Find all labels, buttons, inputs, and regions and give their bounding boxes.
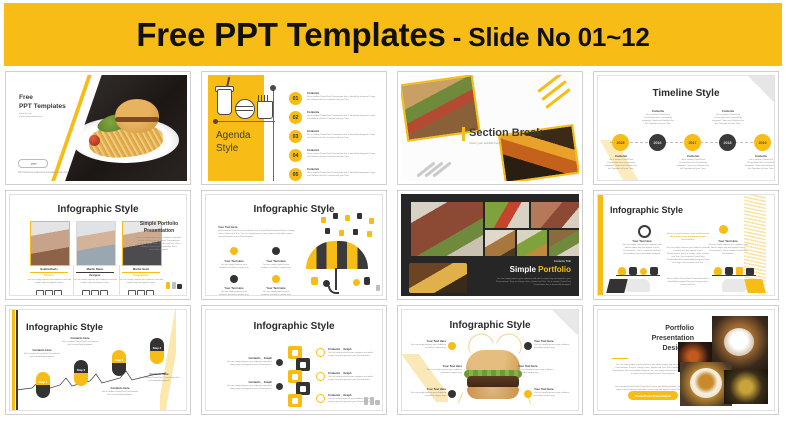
right-bullet-2 — [316, 372, 325, 381]
agenda-heading-5: Contents — [307, 167, 319, 171]
slide-11-title: Infographic Style — [402, 320, 578, 331]
drink-cup-icon — [217, 89, 232, 115]
connector-knob-left — [213, 119, 218, 124]
step-label-4: Step 4 — [150, 346, 164, 350]
step-pill-4: Step 4 — [150, 338, 164, 364]
footer-cup-icon — [364, 397, 368, 405]
slide-grid: Free PPT Templates Insert the title of y… — [0, 68, 786, 423]
slide-thumbnail-12[interactable]: Portfolio Presentation Designed You can … — [593, 305, 779, 415]
cup-mini-icon — [166, 282, 170, 289]
page-title-sub: - Slide No 01~12 — [446, 22, 650, 52]
slide-2-canvas: Agenda Style 01 Contents Get a modern Po… — [205, 75, 383, 181]
step-pill-2: Step 2 — [74, 360, 88, 386]
step-label-1: Step 1 — [36, 380, 50, 384]
right-body-1: You can simply impress your audience and… — [328, 352, 378, 358]
burger-board-photo — [409, 263, 467, 293]
timeline-node-2: 2016 — [649, 134, 666, 151]
right-body-2: You can simply impress your audience and… — [328, 376, 378, 382]
fries-box-icon — [257, 101, 273, 119]
step-heading-1: Contents Here — [22, 348, 62, 352]
step-body-2: Get a modern PowerPoint Presentation tha… — [60, 341, 100, 347]
slide-4-title: Timeline Style — [598, 88, 774, 99]
coffee-cup-shape — [724, 328, 754, 356]
left-heading-1: Contents _ Graph — [230, 356, 272, 360]
agenda-body-2: Get a modern PowerPoint Presentation tha… — [307, 115, 379, 121]
step-heading-4: Contents Here — [138, 372, 180, 376]
slide-7-body: You can simply impress your audience and… — [489, 278, 571, 287]
social-icon-3b[interactable] — [137, 290, 145, 296]
right-food-icon-2 — [725, 267, 733, 275]
agenda-heading-2: Contents — [307, 110, 319, 114]
food-photo-4 — [485, 230, 515, 256]
slide-gallery-page: Free PPT Templates - Slide No 01~12 — [0, 0, 786, 423]
agenda-number-4: 04 — [289, 149, 302, 162]
team-role-1: Director — [26, 274, 72, 277]
team-role-2: Designer — [72, 274, 118, 277]
slide-7-title: Simple Portfolio — [510, 265, 571, 274]
timeline-body-5: Get a modern PowerPoint Presentation tha… — [744, 159, 775, 171]
slide-9-canvas: Infographic Style Step 1 Contents Here G… — [9, 309, 187, 411]
food-photo-3 — [531, 202, 579, 228]
food-photo-2 — [485, 202, 529, 228]
slide-10-canvas: Infographic Style Contents _ Graph — [205, 309, 383, 411]
social-icon-1c[interactable] — [54, 290, 62, 296]
slide-thumbnail-10[interactable]: Infographic Style Contents _ Graph — [201, 305, 387, 415]
tomato-shape — [89, 135, 100, 146]
slide-2-title: Agenda Style — [216, 129, 250, 155]
right-heading: Your Text Here — [710, 239, 746, 243]
falling-icon-8 — [353, 229, 358, 235]
slide-10-title: Infographic Style — [206, 321, 382, 332]
agenda-number-1: 01 — [289, 92, 302, 105]
left-palm — [624, 279, 650, 292]
team-body-3: You can simply impress your audience and… — [118, 279, 164, 285]
right-body: You can simply impress your audience and… — [708, 244, 748, 256]
left-bullet-2 — [276, 383, 283, 390]
logo-badge: PPT — [18, 159, 48, 168]
bottom-icon-3 — [353, 279, 360, 286]
step-heading-2: Contents Here — [60, 336, 100, 340]
bullet-marker-4 — [272, 275, 280, 283]
burger-illustration — [464, 350, 522, 400]
timeline-body-3: Get a modern PowerPoint Presentation tha… — [676, 159, 710, 171]
team-rule-1 — [30, 272, 68, 273]
slide-12-title-line1: Portfolio — [618, 324, 694, 334]
callout-body-5: You can simply impress your audience and… — [518, 369, 556, 375]
falling-icon-4 — [357, 213, 362, 219]
burger-icon — [235, 99, 255, 119]
callout-heading-1: Your Text Here — [416, 339, 446, 343]
callout-heading-6: Your Text Here — [534, 387, 564, 391]
slide-thumbnail-3[interactable]: Section Break Insert your subtitle here — [397, 71, 583, 185]
left-yellow-bar — [12, 310, 15, 410]
burger-bottom-bun — [467, 387, 519, 399]
slide-thumbnail-11[interactable]: Infographic Style Your Text Here You can… — [397, 305, 583, 415]
callout-heading-2: Your Text Here — [430, 364, 462, 368]
timeline-node-5: 2019 — [754, 134, 771, 151]
stack-square-5-icon — [292, 398, 298, 404]
title-rule — [612, 358, 628, 359]
title-accent-tick — [462, 127, 465, 141]
callout-marker-3 — [448, 390, 456, 398]
left-food-icon-4 — [650, 267, 658, 275]
slide-thumbnail-6[interactable]: Infographic Style Your Text Here Get a m… — [201, 190, 387, 300]
connector-horizontal — [215, 121, 275, 122]
left-marker-icon — [638, 225, 651, 238]
left-body: You can simply impress your audience and… — [622, 244, 662, 256]
timeline-heading-4: Contents — [711, 109, 745, 113]
center-body: You can simply impress your audience and… — [666, 247, 710, 265]
agenda-number-5: 05 — [289, 168, 302, 181]
slide-1-title: Free PPT Templates — [19, 93, 66, 111]
left-body-2: You can simply impress your audience and… — [224, 385, 272, 391]
cell-body-2: You can simply impress your audience and… — [260, 264, 292, 270]
step-body-4: Get a modern PowerPoint Presentation tha… — [138, 377, 180, 383]
social-icon-2c[interactable] — [100, 290, 108, 296]
avatar — [77, 222, 115, 265]
left-food-icon-2 — [629, 267, 637, 275]
tea-cup-shape — [690, 368, 722, 398]
left-yellow-bar — [598, 195, 603, 295]
left-dark-bar — [16, 310, 18, 410]
agenda-heading-1: Contents — [307, 91, 319, 95]
bullet-marker-2 — [272, 247, 280, 255]
team-rule-2 — [76, 272, 114, 273]
side-heading-line2: Presentation — [136, 228, 182, 235]
right-bullet-3 — [316, 394, 325, 403]
connector-knob-top — [270, 85, 276, 91]
left-heading: Your Text Here — [624, 239, 660, 243]
callout-heading-3: Your Text Here — [416, 387, 446, 391]
team-body-2: You can simply impress your audience and… — [72, 279, 118, 285]
slide-7-canvas: Contents Title Simple Portfolio You can … — [401, 194, 579, 296]
step-pill-4-bottom — [150, 351, 164, 364]
slide-thumbnail-1[interactable]: Free PPT Templates Insert the title of y… — [5, 71, 191, 185]
side-panel: Simple Portfolio Presentation — [136, 221, 182, 235]
slide-12-canvas: Portfolio Presentation Designed You can … — [597, 309, 775, 411]
umbrella-hook — [328, 286, 339, 294]
connector-vertical — [273, 87, 274, 181]
slide-8-title: Infographic Style — [610, 205, 683, 215]
food-photo-5 — [517, 230, 547, 256]
social-icon-2a[interactable] — [82, 290, 90, 296]
side-body: You can simply impress your audience and… — [136, 237, 182, 252]
left-body-1: You can simply impress your audience and… — [224, 361, 272, 367]
burger-shape — [115, 99, 159, 133]
slide-6-title: Infographic Style — [206, 204, 382, 215]
left-hand-icon — [608, 277, 650, 293]
step-pill-1-bottom — [36, 385, 50, 398]
food-photo-6 — [549, 230, 579, 256]
step-heading-3: Contents Here — [100, 386, 140, 390]
burger-line-2 — [235, 110, 253, 111]
team-rule-3 — [122, 272, 160, 273]
footer-burger-icon — [375, 400, 380, 405]
team-photo-2 — [76, 221, 116, 266]
slide-thumbnail-7[interactable]: Contents Title Simple Portfolio You can … — [397, 190, 583, 300]
bottom-icon-2 — [323, 280, 330, 287]
step-body-1: Get a modern PowerPoint Presentation tha… — [22, 353, 62, 359]
timeline-heading-5: Contents — [744, 154, 775, 158]
right-hand-icon — [722, 277, 764, 293]
social-icon-1a[interactable] — [36, 290, 44, 296]
slide-thumbnail-4[interactable]: Timeline Style 2015 Contents Get a moder… — [593, 71, 779, 185]
social-icon-3c[interactable] — [146, 290, 154, 296]
callout-body-6: You can simply impress your audience and… — [534, 392, 570, 398]
cell-heading-4: Your Text Here — [264, 286, 288, 290]
right-food-icon-4 — [746, 268, 754, 275]
team-role-3: Programmer — [118, 274, 164, 277]
falling-icon-5 — [369, 218, 374, 224]
burger-top-bun — [466, 350, 520, 372]
umbrella-dome — [306, 241, 368, 269]
social-icon-1b[interactable] — [45, 290, 53, 296]
agenda-number-3: 03 — [289, 130, 302, 143]
intro-body: Get a modern PowerPoint Presentation tha… — [218, 230, 296, 239]
cup-mini-icon-2 — [172, 282, 176, 289]
callout-marker-6 — [524, 390, 532, 398]
footer-cup-icon-2 — [370, 397, 374, 405]
step-pill-3: Step 3 — [112, 350, 126, 376]
coffee-photo-4 — [724, 370, 768, 404]
step-label-2: Step 2 — [74, 368, 88, 372]
slide-8-canvas: Infographic Style Your Text Here You can… — [597, 194, 775, 296]
stack-square-3-icon — [292, 374, 298, 380]
slide-5-title: Infographic Style — [10, 204, 186, 215]
agenda-heading-3: Contents — [307, 129, 319, 133]
step-pill-3-bottom — [112, 363, 126, 376]
callout-marker-4 — [524, 342, 532, 350]
social-icon-2b[interactable] — [91, 290, 99, 296]
callout-marker-1 — [448, 342, 456, 350]
stack-square-1-icon — [292, 350, 298, 356]
step-pill-1: Step 1 — [36, 372, 50, 398]
agenda-body-4: Get a modern PowerPoint Presentation tha… — [307, 153, 379, 159]
slide-9-title: Infographic Style — [26, 322, 103, 333]
cell-heading-1: Your Text Here — [222, 259, 246, 263]
footer-url: http://www.free-powerpoint-templates-des… — [18, 172, 68, 174]
cta-button[interactable]: PowerPoint Presentation — [628, 391, 678, 400]
left-heading-2: Contents _ Graph — [230, 380, 272, 384]
leg-left-icon — [458, 392, 464, 404]
agenda-body-5: Get a modern PowerPoint Presentation tha… — [307, 172, 379, 178]
right-heading-1: Contents _ Graph — [328, 347, 374, 351]
side-heading-line1: Simple Portfolio — [136, 221, 182, 228]
step-pill-2-bottom — [74, 373, 88, 386]
slide-11-canvas: Infographic Style Your Text Here You can… — [401, 309, 579, 411]
timeline-node-1: 2015 — [612, 134, 629, 151]
falling-icon-6 — [325, 228, 330, 234]
cell-body-1: You can simply impress your audience and… — [218, 264, 250, 270]
slide-6-canvas: Infographic Style Your Text Here Get a m… — [205, 194, 383, 296]
slide-7-title-part1: Simple — [510, 265, 538, 274]
logo-label: PPT — [31, 162, 37, 166]
timeline-heading-1: Contents — [604, 154, 638, 158]
right-food-icon-3 — [736, 267, 743, 275]
falling-icon-1 — [321, 217, 326, 223]
callout-body-4: You can simply impress your audience and… — [534, 344, 570, 350]
burger-line-1 — [235, 106, 253, 107]
slide-1-subtitle: Insert the title of your presentation he… — [19, 113, 83, 119]
timeline-heading-3: Contents — [676, 154, 710, 158]
right-food-icon-1 — [714, 267, 722, 275]
team-name-1: Sophia Davis — [26, 267, 72, 271]
page-title: Free PPT Templates - Slide No 01~12 — [136, 16, 649, 54]
callout-body-1: You can simply impress your audience and… — [410, 344, 446, 350]
left-food-icon-1 — [618, 267, 626, 275]
timeline-node-4: 2018 — [719, 134, 736, 151]
callout-body-2: You can simply impress your audience and… — [424, 369, 462, 375]
center-footer: Get a modern PowerPoint Presentation tha… — [666, 278, 710, 287]
bottom-icon-1 — [311, 277, 318, 285]
step-body-3: Get a modern PowerPoint Presentation tha… — [100, 391, 140, 397]
slide-4-canvas: Timeline Style 2015 Contents Get a moder… — [597, 75, 775, 181]
stack-square-2-icon — [300, 362, 306, 368]
team-name-2: Martin Davis — [72, 267, 118, 271]
timeline-body-4: Get a modern PowerPoint Presentation tha… — [711, 114, 745, 126]
team-body-1: You can simply impress your audience and… — [26, 279, 72, 285]
food-photo-1 — [411, 202, 483, 256]
social-icon-3a[interactable] — [128, 290, 136, 296]
falling-icon-3 — [345, 215, 350, 221]
slide-thumbnail-5[interactable]: Infographic Style Sophia Davis Director … — [5, 190, 191, 300]
slide-thumbnail-2[interactable]: Agenda Style 01 Contents Get a modern Po… — [201, 71, 387, 185]
timeline-body-1: Get a modern PowerPoint Presentation tha… — [604, 159, 638, 171]
slide-thumbnail-9[interactable]: Infographic Style Step 1 Contents Here G… — [5, 305, 191, 415]
slide-7-tag: Contents Title — [554, 260, 571, 263]
cell-heading-3: Your Text Here — [222, 286, 246, 290]
step-label-3: Step 3 — [112, 358, 126, 362]
right-marker-icon — [719, 225, 728, 234]
cell-body-4: You can simply impress your audience and… — [260, 291, 292, 296]
cell-body-3: You can simply impress your audience and… — [218, 291, 250, 296]
stack-square-4-icon — [300, 386, 306, 392]
slide-7-title-part2: Portfolio — [538, 265, 571, 274]
agenda-body-1: Get a modern PowerPoint Presentation tha… — [307, 96, 379, 102]
team-name-3: Martin Scott — [118, 267, 164, 271]
header-banner: Free PPT Templates - Slide No 01~12 — [4, 3, 782, 66]
burger-patty-shape — [115, 117, 159, 122]
timeline-node-3: 2017 — [684, 134, 701, 151]
page-title-main: Free PPT Templates — [136, 16, 445, 53]
bullet-marker-3 — [230, 275, 238, 283]
slide-3-subtitle: Insert your subtitle here — [469, 141, 500, 145]
left-bullet-1 — [276, 359, 283, 366]
timeline-heading-2: Contents — [641, 109, 675, 113]
agenda-body-3: Get a modern PowerPoint Presentation tha… — [307, 134, 379, 140]
slide-3-canvas: Section Break Insert your subtitle here — [401, 75, 579, 181]
callout-heading-5: Your Text Here — [518, 364, 550, 368]
agenda-heading-4: Contents — [307, 148, 319, 152]
callout-heading-4: Your Text Here — [534, 339, 564, 343]
agenda-number-2: 02 — [289, 111, 302, 124]
right-cuff — [744, 279, 765, 293]
bullet-marker-1 — [230, 247, 238, 255]
timeline-body-2: Get a modern PowerPoint Presentation tha… — [641, 114, 675, 126]
right-bullet-1 — [316, 348, 325, 357]
right-heading-2: Contents _ Graph — [328, 371, 374, 375]
slide-5-canvas: Infographic Style Sophia Davis Director … — [9, 194, 187, 296]
bottom-icon-5 — [376, 285, 380, 291]
left-cuff — [606, 279, 627, 293]
falling-icon-9 — [367, 231, 372, 237]
stack-square-5 — [288, 394, 302, 407]
avatar — [31, 222, 69, 265]
slide-3-title: Section Break — [469, 127, 542, 139]
slide-1-canvas: Free PPT Templates Insert the title of y… — [9, 75, 187, 181]
intro-heading: Your Text Here — [218, 225, 237, 229]
burger-mini-icon — [177, 284, 182, 289]
falling-icon-2 — [333, 213, 338, 219]
callout-body-3: You can simply impress your audience and… — [410, 392, 446, 398]
cell-heading-2: Your Text Here — [264, 259, 288, 263]
umbrella-icon — [306, 241, 368, 269]
falling-icon-7 — [339, 230, 344, 236]
left-food-icon-3 — [640, 268, 647, 275]
bottom-icon-4 — [364, 277, 370, 285]
team-photo-1 — [30, 221, 70, 266]
center-heading: You can simply impress your audience and… — [666, 233, 710, 242]
slide-thumbnail-8[interactable]: Infographic Style Your Text Here You can… — [593, 190, 779, 300]
